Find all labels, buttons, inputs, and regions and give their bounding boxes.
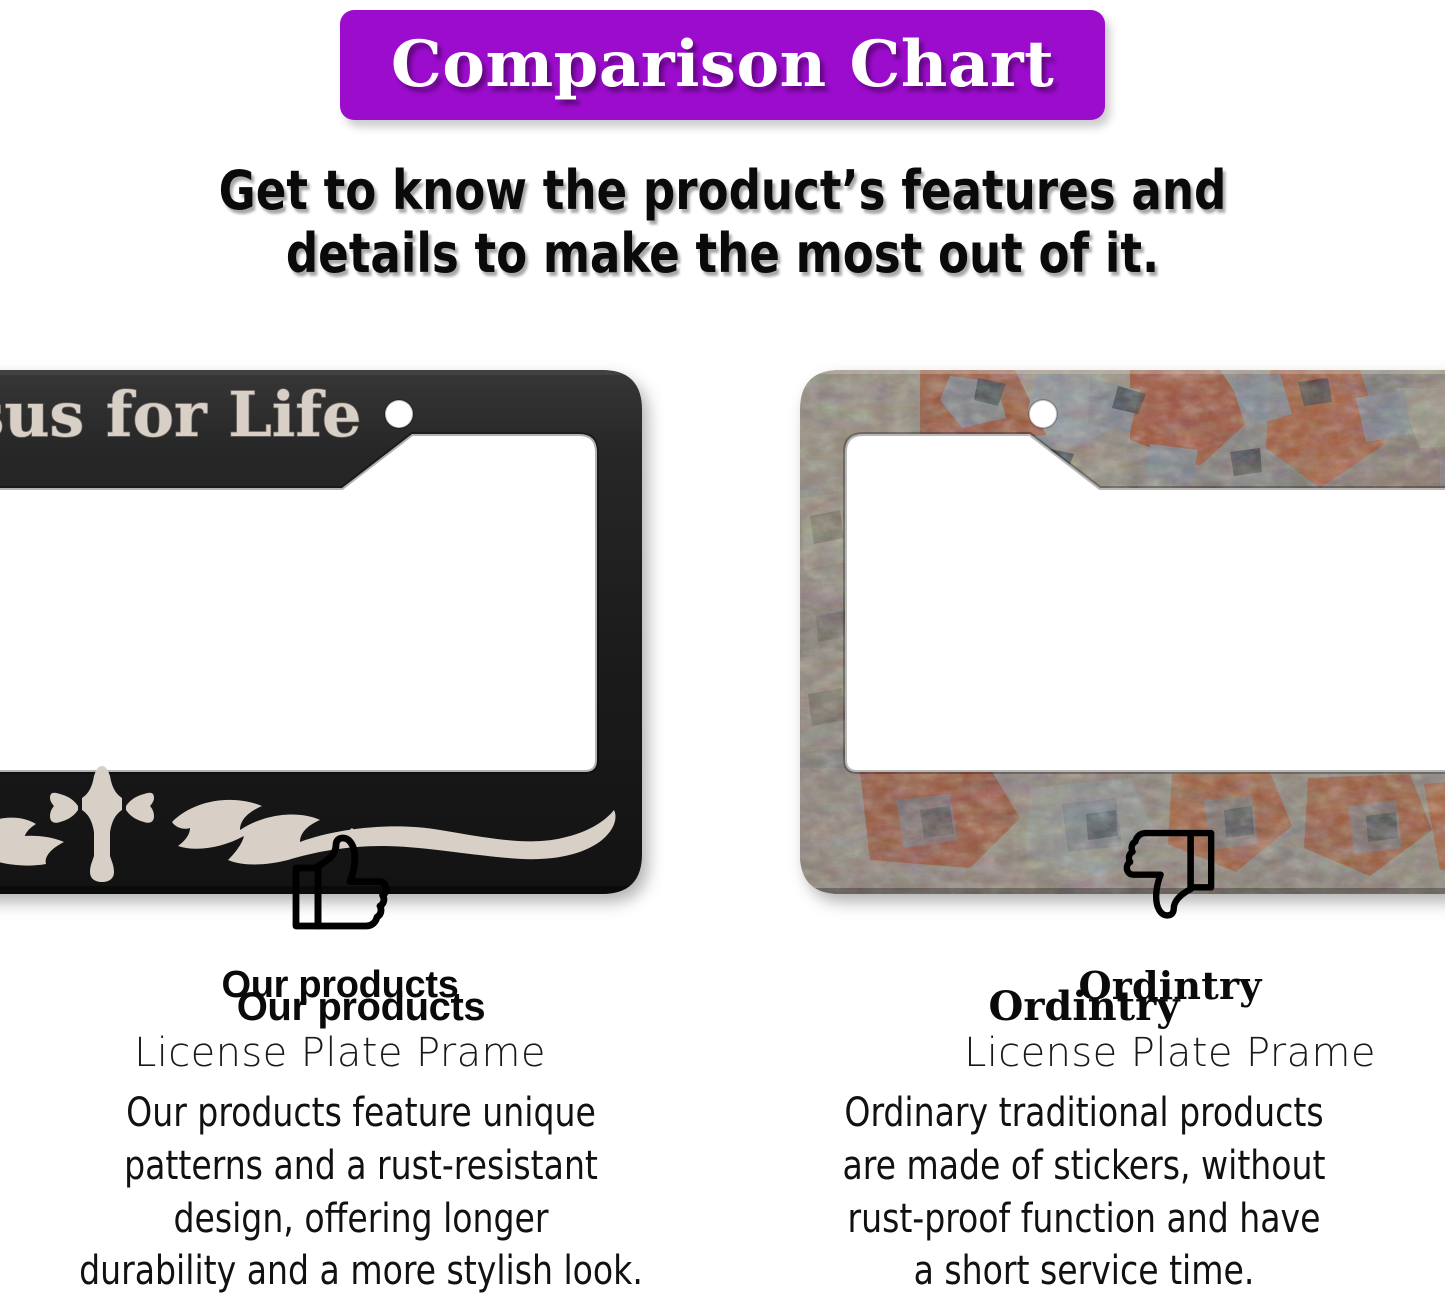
comparison-chart-banner: Comparison Chart [340,10,1105,120]
description-line: Our products feature unique [29,1087,693,1140]
description-line: a short service time. [752,1245,1416,1298]
ordinary-product-heading: Ordintry [723,985,1445,1029]
subtitle-line-2: details to make the most out of it. [51,223,1395,286]
description-line: durability and a more stylish look. [29,1245,693,1298]
ordinary-product-column: Ordintry Ordinary traditional products a… [723,985,1445,1298]
our-product-description: Our products feature unique patterns and… [29,1087,693,1298]
our-product-column: Our products Our products feature unique… [0,985,722,1298]
thumbs-down-icon [1112,818,1228,938]
ordinary-product-description: Ordinary traditional products are made o… [752,1087,1416,1298]
comparison-chart-page: Comparison Chart Get to know the product… [0,0,1445,1314]
page-title: Comparison Chart [391,33,1054,97]
subtitle-line-1: Get to know the product’s features and [51,160,1395,223]
page-subtitle: Get to know the product’s features and d… [51,160,1395,285]
comparison-columns: Our products Our products feature unique… [0,985,1445,1314]
description-line: Ordinary traditional products [752,1087,1416,1140]
description-line: are made of stickers, without [752,1140,1416,1193]
description-line: rust-proof function and have [752,1193,1416,1246]
product-frames-row: esus for Life [0,348,1445,928]
thumbs-up-icon [278,818,402,938]
our-product-heading: Our products [0,985,722,1029]
description-line: patterns and a rust-resistant [29,1140,693,1193]
description-line: design, offering longer [29,1193,693,1246]
frame-slogan-text: esus for Life [0,378,361,451]
